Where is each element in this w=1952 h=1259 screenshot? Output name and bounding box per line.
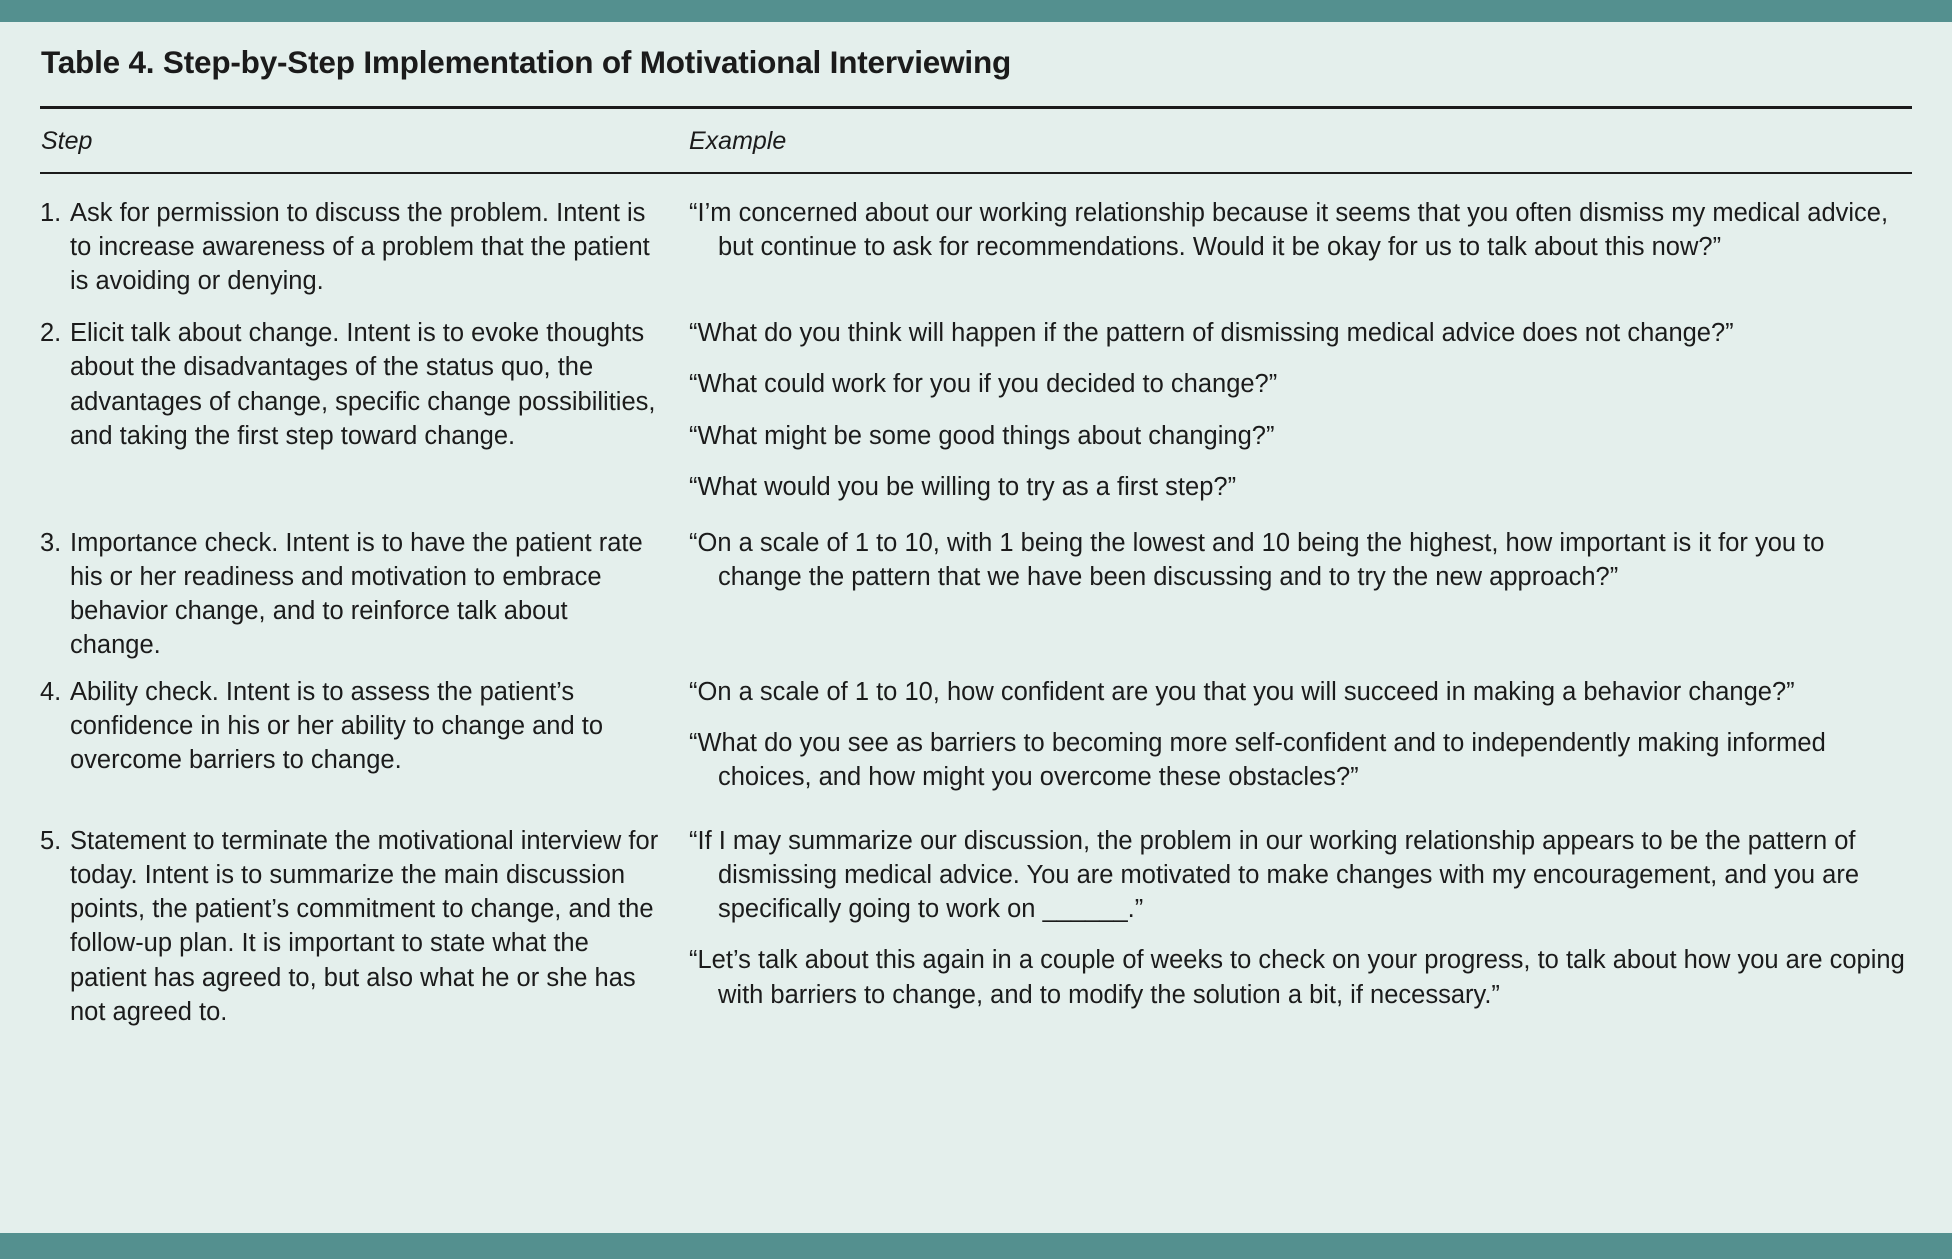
example-item: “Let’s talk about this again in a couple… — [689, 943, 1912, 1011]
step-text: Statement to terminate the motivational … — [70, 824, 663, 1029]
step-cell: 2.Elicit talk about change. Intent is to… — [40, 316, 685, 457]
example-cell: “I’m concerned about our working relatio… — [685, 196, 1912, 264]
step-cell: 5.Statement to terminate the motivationa… — [40, 824, 685, 1033]
example-cell: “On a scale of 1 to 10, how confident ar… — [685, 675, 1912, 794]
step-cell: 1.Ask for permission to discuss the prob… — [40, 196, 685, 302]
example-cell: “On a scale of 1 to 10, with 1 being the… — [685, 526, 1912, 594]
table-row: 1.Ask for permission to discuss the prob… — [40, 196, 1912, 302]
step-text: Ask for permission to discuss the proble… — [70, 196, 663, 298]
table-title: Table 4. Step-by-Step Implementation of … — [40, 22, 1912, 82]
bottom-accent-bar — [0, 1233, 1952, 1259]
step-cell: 3.Importance check. Intent is to have th… — [40, 526, 685, 667]
step-text: Importance check. Intent is to have the … — [70, 526, 663, 663]
step-number: 4. — [40, 675, 70, 777]
table-row: 3.Importance check. Intent is to have th… — [40, 526, 1912, 667]
column-header-step: Step — [40, 127, 685, 156]
example-item: “What could work for you if you decided … — [689, 367, 1912, 401]
step-text: Elicit talk about change. Intent is to e… — [70, 316, 663, 453]
step-number: 3. — [40, 526, 70, 663]
step-text: Ability check. Intent is to assess the p… — [70, 675, 663, 777]
step-item: 3.Importance check. Intent is to have th… — [40, 526, 663, 663]
top-accent-bar — [0, 0, 1952, 22]
table-figure: Table 4. Step-by-Step Implementation of … — [0, 0, 1952, 1259]
table-row: 5.Statement to terminate the motivationa… — [40, 824, 1912, 1033]
example-item: “On a scale of 1 to 10, how confident ar… — [689, 675, 1912, 709]
step-item: 5.Statement to terminate the motivationa… — [40, 824, 663, 1029]
example-cell: “If I may summarize our discussion, the … — [685, 824, 1912, 1012]
column-header-example: Example — [685, 127, 1912, 156]
example-item: “I’m concerned about our working relatio… — [689, 196, 1912, 264]
table-rows: 1.Ask for permission to discuss the prob… — [40, 174, 1912, 1033]
example-item: “On a scale of 1 to 10, with 1 being the… — [689, 526, 1912, 594]
example-cell: “What do you think will happen if the pa… — [685, 316, 1912, 504]
table-row: 2.Elicit talk about change. Intent is to… — [40, 316, 1912, 504]
example-item: “If I may summarize our discussion, the … — [689, 824, 1912, 926]
step-number: 5. — [40, 824, 70, 1029]
step-cell: 4.Ability check. Intent is to assess the… — [40, 675, 685, 781]
step-item: 1.Ask for permission to discuss the prob… — [40, 196, 663, 298]
table-body: Table 4. Step-by-Step Implementation of … — [0, 22, 1952, 1233]
example-item: “What might be some good things about ch… — [689, 419, 1912, 453]
column-header-row: Step Example — [40, 109, 1912, 172]
example-item: “What would you be willing to try as a f… — [689, 470, 1912, 504]
step-item: 2.Elicit talk about change. Intent is to… — [40, 316, 663, 453]
example-item: “What do you think will happen if the pa… — [689, 316, 1912, 350]
example-item: “What do you see as barriers to becoming… — [689, 726, 1912, 794]
table-row: 4.Ability check. Intent is to assess the… — [40, 675, 1912, 794]
step-number: 2. — [40, 316, 70, 453]
step-item: 4.Ability check. Intent is to assess the… — [40, 675, 663, 777]
step-number: 1. — [40, 196, 70, 298]
